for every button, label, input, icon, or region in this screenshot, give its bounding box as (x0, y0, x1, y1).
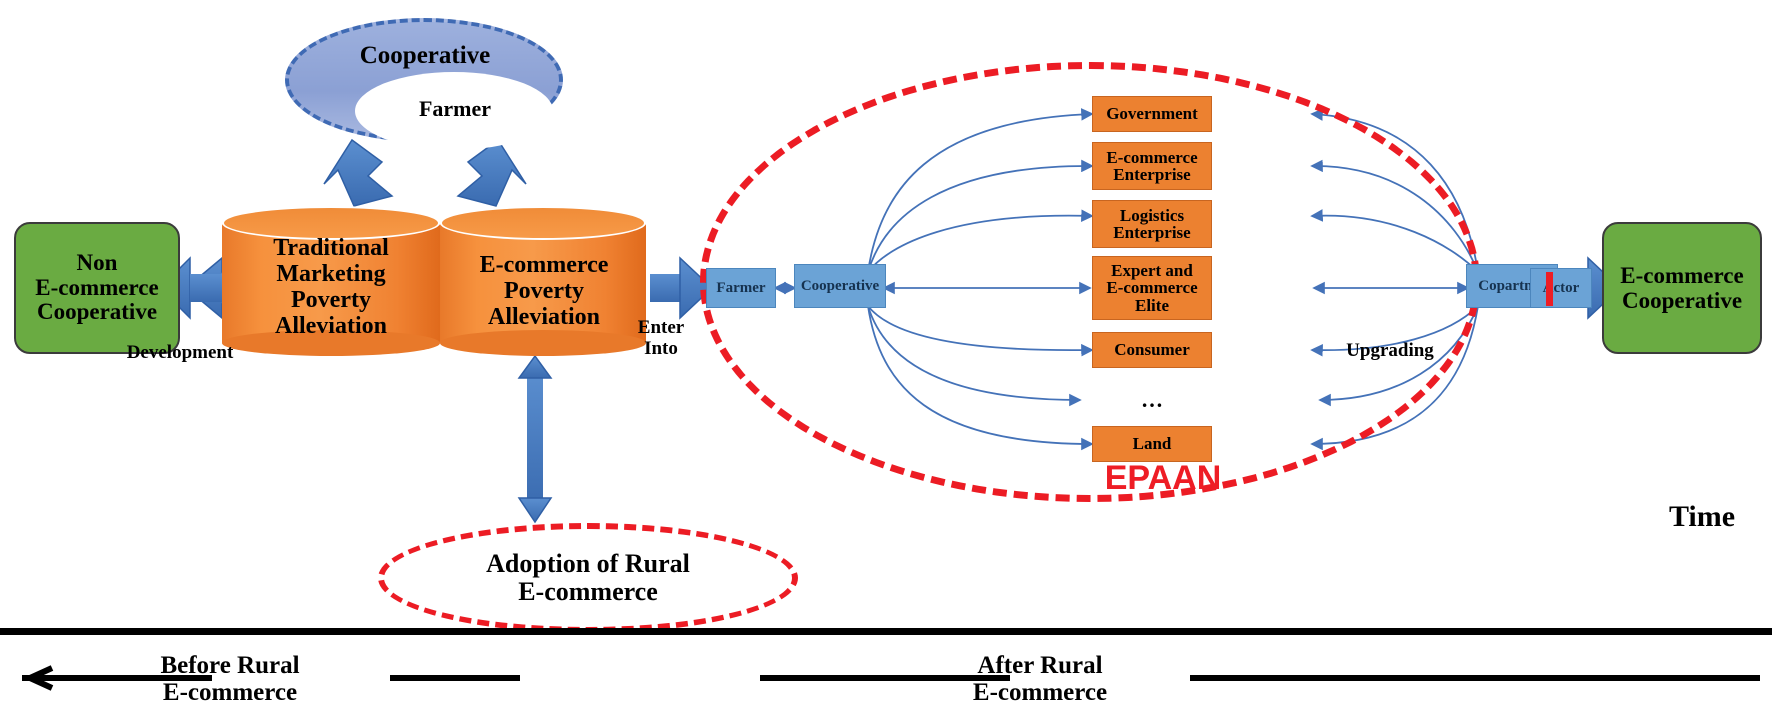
network-node-farmer[interactable]: Farmer (706, 268, 776, 308)
cooperative-label: Cooperative (300, 40, 550, 70)
block-arrow-coop-to-traditional (324, 140, 392, 206)
non-ecommerce-cooperative-label: Non E-commerce Cooperative (16, 228, 178, 348)
timeline-axis (0, 628, 1772, 635)
development-label: Development (112, 340, 248, 366)
traditional-marketing-label: Traditional Marketing Poverty Alleviatio… (228, 228, 434, 348)
epaan-label: EPAAN (1073, 458, 1253, 498)
cylinder-top (440, 206, 646, 240)
network-node-expert-elite[interactable]: Expert and E-commerce Elite (1092, 256, 1212, 320)
enter-into-label: Enter Into (630, 310, 692, 368)
network-node-actor[interactable]: Actor (1530, 268, 1592, 308)
network-node-government[interactable]: Government (1092, 96, 1212, 132)
network-node-consumer[interactable]: Consumer (1092, 332, 1212, 368)
diagram-canvas: Cooperative Farmer Non E-commerce Cooper… (0, 0, 1772, 716)
ecommerce-poverty-label: E-commerce Poverty Alleviation (446, 240, 642, 344)
network-node-land[interactable]: Land (1092, 426, 1212, 462)
before-rural-ecommerce-label: Before Rural E-commerce (120, 648, 340, 710)
time-axis-label: Time (1642, 500, 1762, 534)
network-node-logistics-enterprise[interactable]: Logistics Enterprise (1092, 200, 1212, 248)
farmer-label: Farmer (360, 96, 550, 122)
after-rural-ecommerce-label: After Rural E-commerce (930, 648, 1150, 710)
network-node-ellipsis: … (1092, 384, 1212, 416)
network-node-cooperative[interactable]: Cooperative (794, 264, 886, 308)
block-arrow-coop-to-ecommerce (458, 140, 526, 206)
block-arrow-adoption (519, 356, 551, 522)
red-divider-tick (1546, 272, 1553, 306)
network-node-ecommerce-enterprise[interactable]: E-commerce Enterprise (1092, 142, 1212, 190)
ecommerce-cooperative-label: E-commerce Cooperative (1604, 230, 1760, 348)
adoption-label: Adoption of Rural E-commerce (388, 540, 788, 616)
